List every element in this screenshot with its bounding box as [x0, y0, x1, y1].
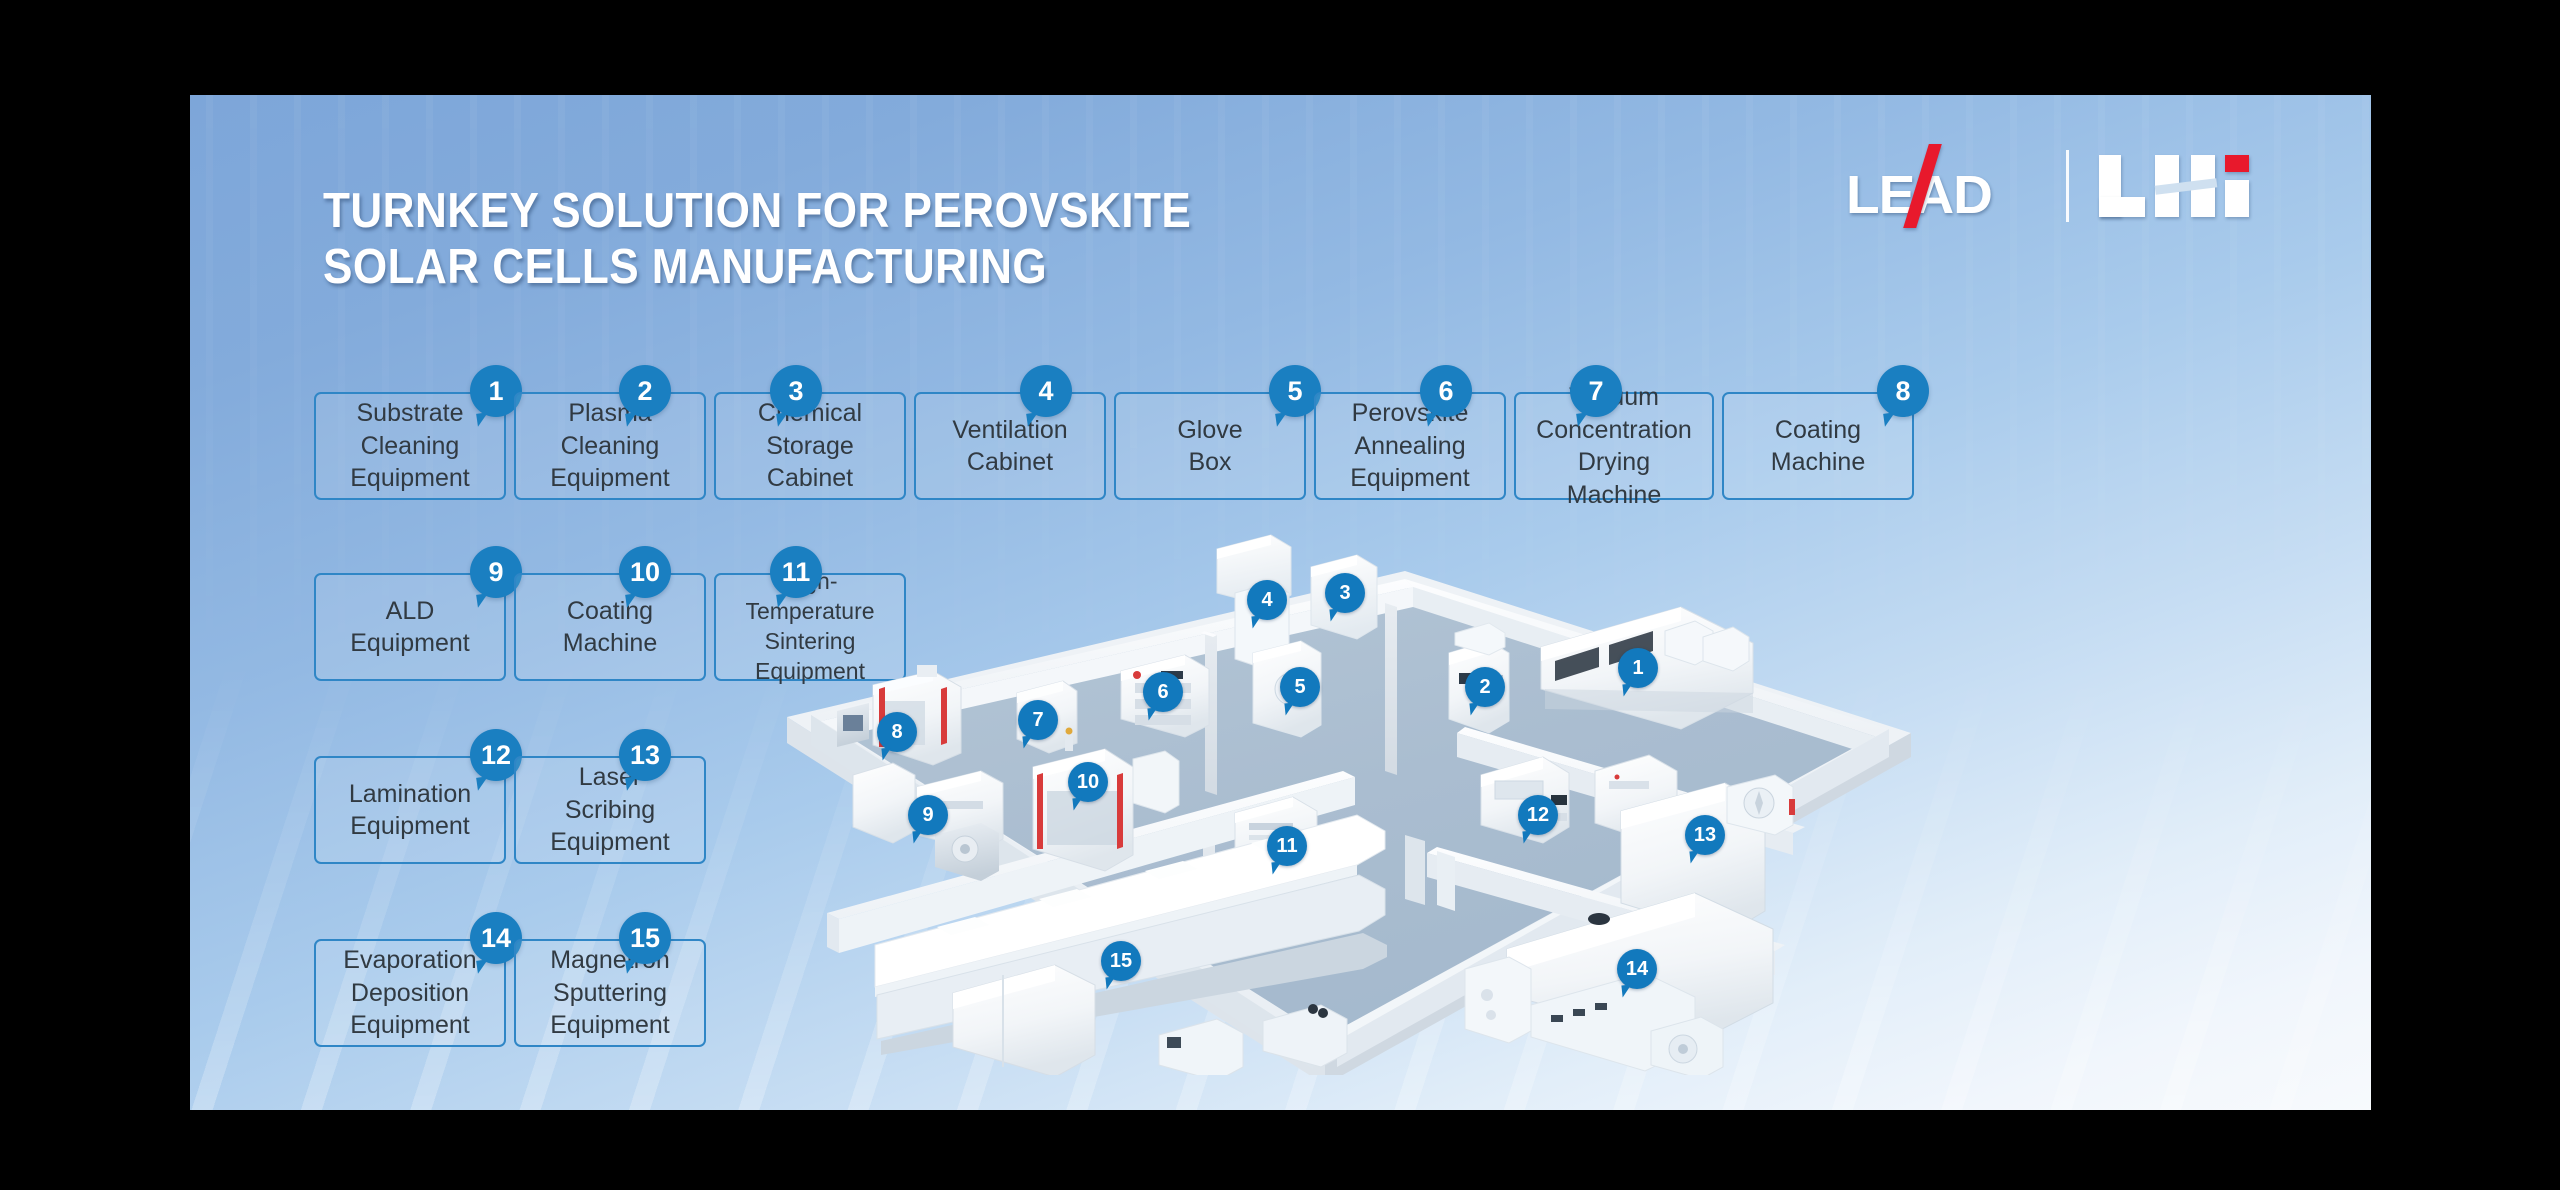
lhi-logo-bar-i-stem: [2225, 180, 2249, 217]
partition-wall-stub-2: [1437, 851, 1455, 911]
factory-floorplan-illustration: 8 7 6 4 3 5 2 1 9 10 11 12 13 14 15: [765, 475, 1925, 1075]
equipment-card-2-badge: 2: [619, 365, 671, 417]
floorplan-svg: [765, 475, 1925, 1075]
lhi-logo-bar-i-top-red: [2225, 155, 2249, 172]
equipment-card-15[interactable]: Magnetron Sputtering Equipment: [514, 939, 706, 1047]
equipment-card-7-badge: 7: [1570, 365, 1622, 417]
equipment-card-4-label: Ventilation Cabinet: [952, 414, 1067, 479]
equipment-card-15-badge: 15: [619, 912, 671, 964]
presentation-slide: TURNKEY SOLUTION FOR PEROVSKITE SOLAR CE…: [190, 95, 2371, 1110]
floorplan-pin-10[interactable]: 10: [1068, 762, 1108, 802]
lead-logo: LEAD: [1846, 148, 2036, 224]
logo-group: LEAD: [1846, 143, 2249, 229]
floorplan-pin-5[interactable]: 5: [1280, 667, 1320, 707]
floorplan-pin-13[interactable]: 13: [1685, 815, 1725, 855]
floorplan-pin-6[interactable]: 6: [1143, 672, 1183, 712]
lhi-logo-bar-l-foot: [2099, 197, 2145, 217]
equipment-card-3-badge: 3: [770, 365, 822, 417]
floorplan-pin-15[interactable]: 15: [1101, 941, 1141, 981]
floorplan-pin-1[interactable]: 1: [1618, 648, 1658, 688]
floorplan-pin-7[interactable]: 7: [1018, 700, 1058, 740]
floorplan-pin-9[interactable]: 9: [908, 795, 948, 835]
equipment-card-10-badge: 10: [619, 546, 671, 598]
page-title: TURNKEY SOLUTION FOR PEROVSKITE SOLAR CE…: [323, 183, 1403, 296]
partition-wall-stub: [1405, 835, 1425, 905]
screenshot-stage: TURNKEY SOLUTION FOR PEROVSKITE SOLAR CE…: [0, 0, 2560, 1190]
equipment-card-12-label: Lamination Equipment: [349, 778, 471, 843]
equipment-card-5-label: Glove Box: [1177, 414, 1242, 479]
equipment-card-8-label: Coating Machine: [1771, 414, 1866, 479]
equipment-card-1-label: Substrate Cleaning Equipment: [350, 397, 470, 495]
equipment-card-14-label: Evaporation Deposition Equipment: [343, 944, 476, 1042]
floorplan-pin-14[interactable]: 14: [1617, 949, 1657, 989]
equipment-card-13-badge: 13: [619, 729, 671, 781]
equipment-card-13[interactable]: Laser Scribing Equipment: [514, 756, 706, 864]
equipment-card-6-badge: 6: [1420, 365, 1472, 417]
equipment-card-9-label: ALD Equipment: [350, 595, 470, 660]
equipment-card-4-badge: 4: [1020, 365, 1072, 417]
equipment-card-10[interactable]: Coating Machine: [514, 573, 706, 681]
equipment-card-10-label: Coating Machine: [563, 595, 658, 660]
floorplan-pin-8[interactable]: 8: [877, 712, 917, 752]
equipment-card-2[interactable]: Plasma Cleaning Equipment: [514, 392, 706, 500]
floorplan-pin-3[interactable]: 3: [1325, 573, 1365, 613]
equipment-card-8-badge: 8: [1877, 365, 1929, 417]
floorplan-pin-12[interactable]: 12: [1518, 795, 1558, 835]
lhi-logo: [2099, 155, 2249, 217]
partition-wall-mid-horizontal-face: [827, 913, 839, 953]
floorplan-pin-11[interactable]: 11: [1267, 826, 1307, 866]
partition-wall-right-vertical: [1385, 603, 1397, 775]
floorplan-pin-4[interactable]: 4: [1247, 580, 1287, 620]
floorplan-pin-2[interactable]: 2: [1465, 667, 1505, 707]
logo-divider: [2066, 150, 2069, 222]
